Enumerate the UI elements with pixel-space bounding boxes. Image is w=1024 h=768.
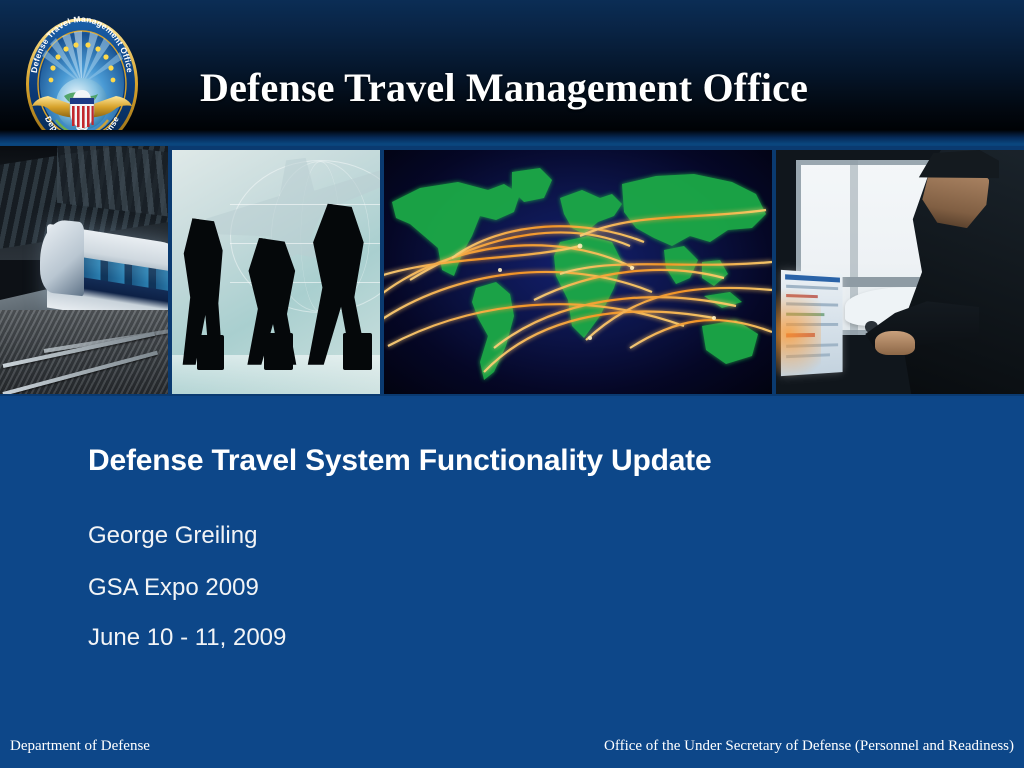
traveler-laptop-photo [776, 150, 1024, 394]
slide-header: Defense Travel Management Office [0, 0, 1024, 148]
photo-band [0, 146, 1024, 396]
event-dates: June 10 - 11, 2009 [88, 624, 286, 652]
business-travelers-photo [172, 150, 380, 394]
slide-content: Defense Travel System Functionality Upda… [0, 424, 1024, 724]
train-platform-photo [0, 146, 168, 394]
slide-title: Defense Travel System Functionality Upda… [88, 444, 968, 478]
footer-department: Department of Defense [10, 738, 150, 755]
event-name: GSA Expo 2009 [88, 574, 259, 602]
organization-title: Defense Travel Management Office [200, 64, 808, 111]
presentation-slide: Defense Travel Management Office [0, 0, 1024, 768]
photo-band-divider [0, 390, 1024, 424]
world-map-routes-photo [384, 150, 772, 394]
footer-office: Office of the Under Secretary of Defense… [604, 738, 1014, 755]
slide-footer: Department of Defense Office of the Unde… [0, 722, 1024, 768]
presenter-name: George Greiling [88, 522, 257, 550]
